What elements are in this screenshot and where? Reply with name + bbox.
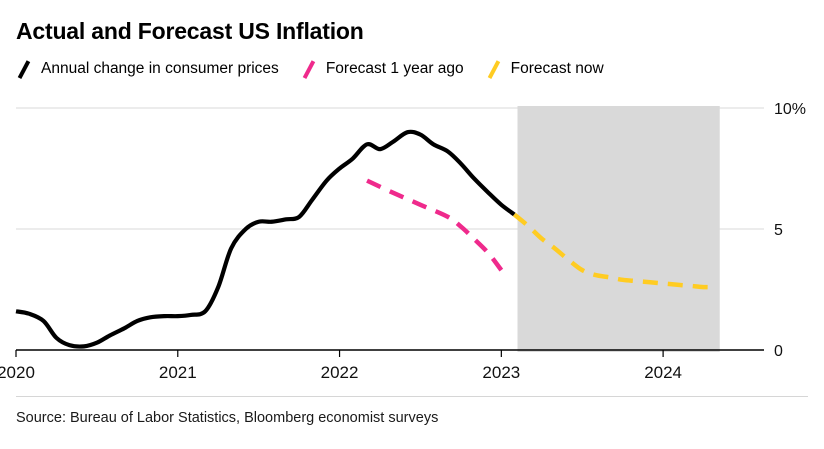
legend-item-label: Forecast 1 year ago	[326, 60, 464, 78]
legend-item-label: Forecast now	[511, 60, 604, 78]
footer-divider	[16, 396, 808, 397]
legend-item-label: Annual change in consumer prices	[41, 60, 279, 78]
chart-legend: Annual change in consumer prices Forecas…	[16, 60, 604, 78]
chart-page: Actual and Forecast US Inflation Annual …	[0, 0, 824, 449]
y-axis-tick-label: 0	[774, 343, 783, 360]
x-axis-tick-label: 2020	[0, 363, 35, 378]
x-axis-tick-label: 2024	[644, 363, 682, 378]
legend-item-forecast-now: Forecast now	[486, 60, 604, 78]
inflation-line-chart: 0510%20202021202220232024	[0, 88, 824, 378]
legend-item-actual: Annual change in consumer prices	[16, 60, 279, 78]
series-line	[16, 132, 514, 347]
series-line	[367, 181, 501, 271]
source-note: Source: Bureau of Labor Statistics, Bloo…	[16, 410, 438, 426]
x-axis-tick-label: 2021	[159, 363, 197, 378]
slash-line-icon	[486, 61, 502, 78]
y-axis-tick-label: 5	[774, 222, 783, 239]
page-title: Actual and Forecast US Inflation	[16, 18, 364, 45]
x-axis-tick-label: 2023	[482, 363, 520, 378]
legend-item-forecast-year-ago: Forecast 1 year ago	[301, 60, 464, 78]
y-axis-tick-label: 10%	[774, 101, 806, 118]
slash-line-icon	[16, 61, 32, 78]
slash-line-icon	[301, 61, 317, 78]
x-axis-tick-label: 2022	[321, 363, 359, 378]
